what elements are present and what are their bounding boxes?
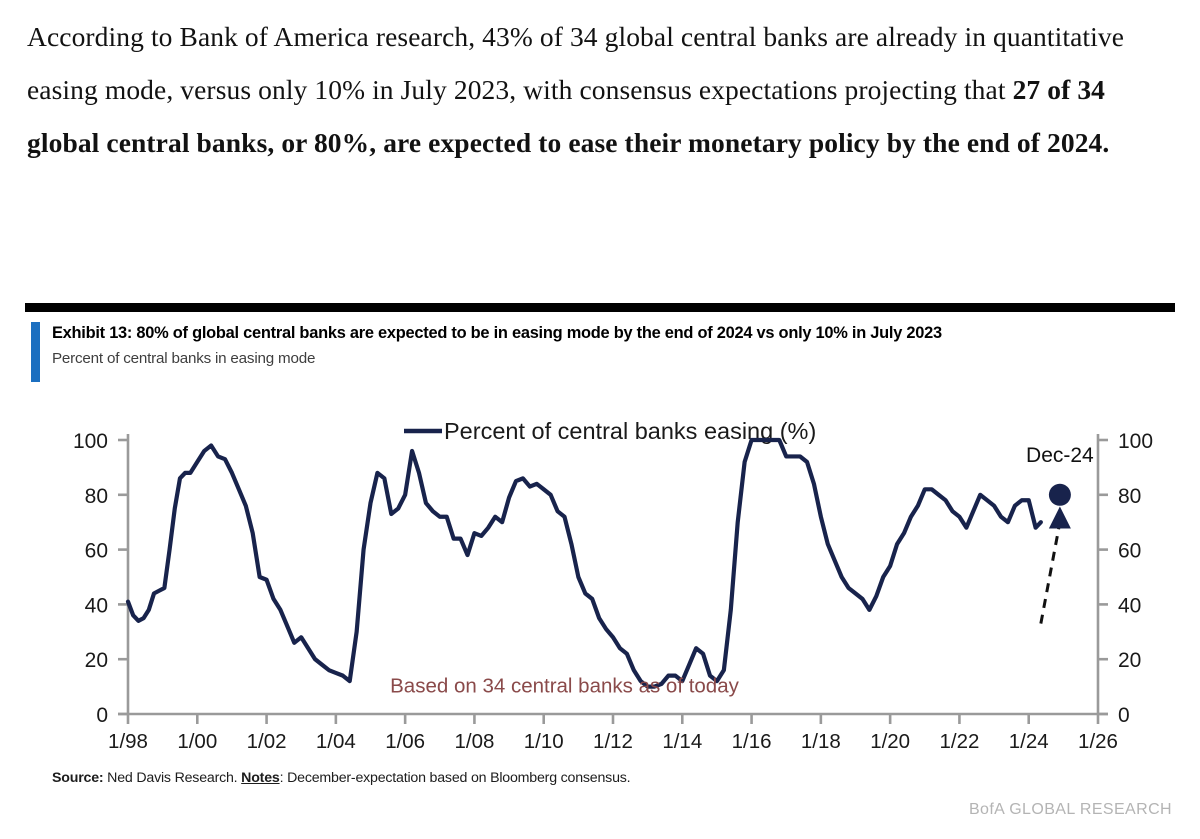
x-tick-label: 1/26 [1078,730,1118,752]
dec-24-callout-label: Dec-24 [1026,444,1094,467]
bofa-attribution: BofA GLOBAL RESEARCH [969,801,1172,819]
central-banks-easing-line-chart: Percent of central banks easing (%) 0020… [0,392,1200,752]
based-on-34-banks-annotation: Based on 34 central banks as of today [390,675,739,698]
x-tick-label: 1/08 [454,730,494,752]
source-label: Source: [52,770,103,786]
series-line-percent-easing [128,440,1041,687]
forecast-dashed-connector [1041,522,1060,623]
exhibit-accent-bar [31,322,40,382]
x-tick-label: 1/10 [524,730,564,752]
exhibit-subtitle: Percent of central banks in easing mode [52,350,315,367]
y-tick-label-right: 80 [1118,485,1141,508]
x-tick-label: 1/20 [870,730,910,752]
y-tick-label-right: 100 [1118,430,1153,453]
y-tick-label-left: 20 [85,649,108,672]
x-tick-label: 1/16 [732,730,772,752]
x-tick-label: 1/06 [385,730,425,752]
x-tick-label: 1/14 [662,730,702,752]
y-tick-label-left: 40 [85,594,108,617]
y-tick-label-left: 80 [85,485,108,508]
exhibit-panel: Exhibit 13: 80% of global central banks … [0,296,1200,839]
y-tick-label-right: 20 [1118,649,1141,672]
x-tick-label: 1/02 [247,730,287,752]
source-note: Source: Ned Davis Research. Notes: Decem… [52,770,630,786]
x-tick-label: 1/18 [801,730,841,752]
forecast-layer: Dec-24 [1026,444,1094,624]
x-tick-label: 1/12 [593,730,633,752]
y-tick-label-right: 40 [1118,594,1141,617]
x-tick-label: 1/04 [316,730,356,752]
chart-series-layer [128,440,1041,687]
exhibit-top-rule [25,303,1175,312]
narrative-paragraph: According to Bank of America research, 4… [27,10,1172,169]
notes-label: Notes [241,770,279,786]
forecast-arrow-icon [1049,506,1071,528]
x-tick-label: 1/22 [939,730,979,752]
dec-24-forecast-dot [1049,484,1071,506]
narrative-text-plain: According to Bank of America research, 4… [27,21,1124,105]
x-tick-label: 1/00 [177,730,217,752]
y-tick-label-left: 0 [96,704,108,727]
x-tick-label: 1/24 [1009,730,1049,752]
x-tick-label: 1/98 [108,730,148,752]
y-tick-label-right: 60 [1118,540,1141,563]
notes-text: : December-expectation based on Bloomber… [280,770,631,786]
y-tick-label-left: 60 [85,540,108,563]
chart-plot-area: Percent of central banks easing (%) 0020… [0,392,1200,752]
y-tick-label-right: 0 [1118,704,1130,727]
source-text: Ned Davis Research. [103,770,241,786]
y-tick-label-left: 100 [73,430,108,453]
exhibit-title: Exhibit 13: 80% of global central banks … [52,324,1162,343]
